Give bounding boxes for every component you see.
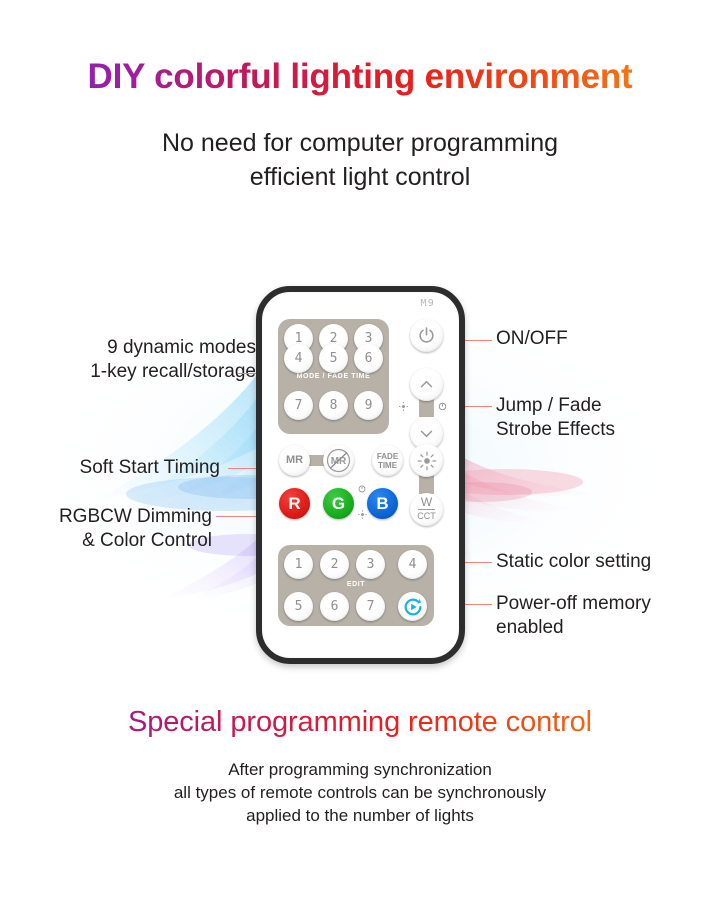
mode-key-8[interactable]: 8 xyxy=(319,391,348,420)
blue-button[interactable]: B xyxy=(367,488,398,519)
edit-panel-caption: EDIT xyxy=(278,581,434,588)
callout-dynamic-modes-line-1: 9 dynamic modes xyxy=(40,336,256,360)
callout-rgbcw-dimming-line-1: RGBCW Dimming xyxy=(20,505,212,529)
green-button[interactable]: G xyxy=(323,488,354,519)
mode-key-7[interactable]: 7 xyxy=(284,391,313,420)
edit-key-7[interactable]: 7 xyxy=(356,592,385,621)
subtitle-line-1: No need for computer programming xyxy=(0,126,720,160)
power-off-memory-icon xyxy=(402,596,424,618)
callout-dynamic-modes: 9 dynamic modes 1-key recall/storage xyxy=(40,336,256,384)
callout-power-off-memory-line-1: Power-off memory xyxy=(496,592,651,616)
page-title: DIY colorful lighting environment xyxy=(0,57,720,97)
edit-key-5[interactable]: 5 xyxy=(284,592,313,621)
mr-button-label: MR xyxy=(286,456,303,465)
callout-soft-start-timing: Soft Start Timing xyxy=(40,456,220,480)
red-button[interactable]: R xyxy=(279,488,310,519)
infographic-page: DIY colorful lighting environment No nee… xyxy=(0,0,720,911)
mode-key-9[interactable]: 9 xyxy=(354,391,383,420)
footer-sub-line-3: applied to the number of lights xyxy=(0,804,720,827)
timer-mini-icon-right xyxy=(438,402,447,411)
mode-key-4[interactable]: 4 xyxy=(284,344,313,373)
brightness-mini-icon-left xyxy=(399,402,408,411)
sun-icon xyxy=(417,451,437,471)
callout-jump-fade-line-2: Strobe Effects xyxy=(496,418,615,442)
callout-rgbcw-dimming: RGBCW Dimming & Color Control xyxy=(20,505,212,553)
mr-button[interactable]: MR xyxy=(279,445,310,476)
chevron-down-icon xyxy=(418,425,435,442)
power-off-memory-button[interactable] xyxy=(398,592,427,621)
mode-keypad-panel: MODE / FADE TIME 1 2 3 4 5 6 7 8 9 xyxy=(278,319,389,434)
edit-key-6[interactable]: 6 xyxy=(320,592,349,621)
mr-off-button[interactable]: MR xyxy=(323,445,354,476)
callout-static-color: Static color setting xyxy=(496,550,651,574)
footer-title: Special programming remote control xyxy=(0,706,720,739)
remote-control: M9 MODE / FADE TIME 1 2 3 4 5 6 7 8 9 MR xyxy=(256,286,465,664)
edit-key-1[interactable]: 1 xyxy=(284,550,313,579)
white-cct-label-line-1: W xyxy=(421,497,432,508)
callout-power-off-memory-line-2: enabled xyxy=(496,616,651,640)
chevron-up-icon xyxy=(418,376,435,393)
power-button[interactable] xyxy=(410,319,443,352)
callout-rgbcw-dimming-line-2: & Color Control xyxy=(20,529,212,553)
footer-sub-line-2: all types of remote controls can be sync… xyxy=(0,781,720,804)
callout-soft-start-timing-line-1: Soft Start Timing xyxy=(40,456,220,480)
fade-time-label-line-2: TIME xyxy=(378,461,397,470)
edit-key-3[interactable]: 3 xyxy=(356,550,385,579)
mode-key-5[interactable]: 5 xyxy=(319,344,348,373)
callout-jump-fade: Jump / Fade Strobe Effects xyxy=(496,394,615,442)
mode-panel-caption: MODE / FADE TIME xyxy=(278,373,389,380)
edit-key-4[interactable]: 4 xyxy=(398,550,427,579)
callout-on-off-line-1: ON/OFF xyxy=(496,327,568,351)
edit-keypad-panel: EDIT 1 2 3 4 5 6 7 xyxy=(278,545,434,626)
fade-time-label-line-1: FADE xyxy=(377,452,398,461)
callout-dynamic-modes-line-2: 1-key recall/storage xyxy=(40,360,256,384)
edit-key-2[interactable]: 2 xyxy=(320,550,349,579)
brightness-button[interactable] xyxy=(410,444,443,477)
callout-jump-fade-line-1: Jump / Fade xyxy=(496,394,615,418)
fade-time-button[interactable]: FADE TIME xyxy=(372,445,403,476)
mode-key-6[interactable]: 6 xyxy=(354,344,383,373)
white-cct-button[interactable]: W CCT xyxy=(410,493,443,526)
callout-static-color-line-1: Static color setting xyxy=(496,550,651,574)
white-cct-label-line-2: CCT xyxy=(417,511,436,522)
callout-on-off: ON/OFF xyxy=(496,327,568,351)
power-icon xyxy=(417,326,436,345)
remote-model-label: M9 xyxy=(421,298,435,309)
brightness-small-icon xyxy=(358,510,367,519)
subtitle-line-2: efficient light control xyxy=(0,160,720,194)
footer-sub-line-1: After programming synchronization xyxy=(0,758,720,781)
page-subtitle: No need for computer programming efficie… xyxy=(0,126,720,194)
footer-subtitle: After programming synchronization all ty… xyxy=(0,758,720,827)
up-button[interactable] xyxy=(410,368,443,401)
white-cct-divider xyxy=(418,509,435,510)
callout-power-off-memory: Power-off memory enabled xyxy=(496,592,651,640)
timer-small-icon xyxy=(358,485,366,493)
mr-off-icon: MR xyxy=(323,445,354,476)
